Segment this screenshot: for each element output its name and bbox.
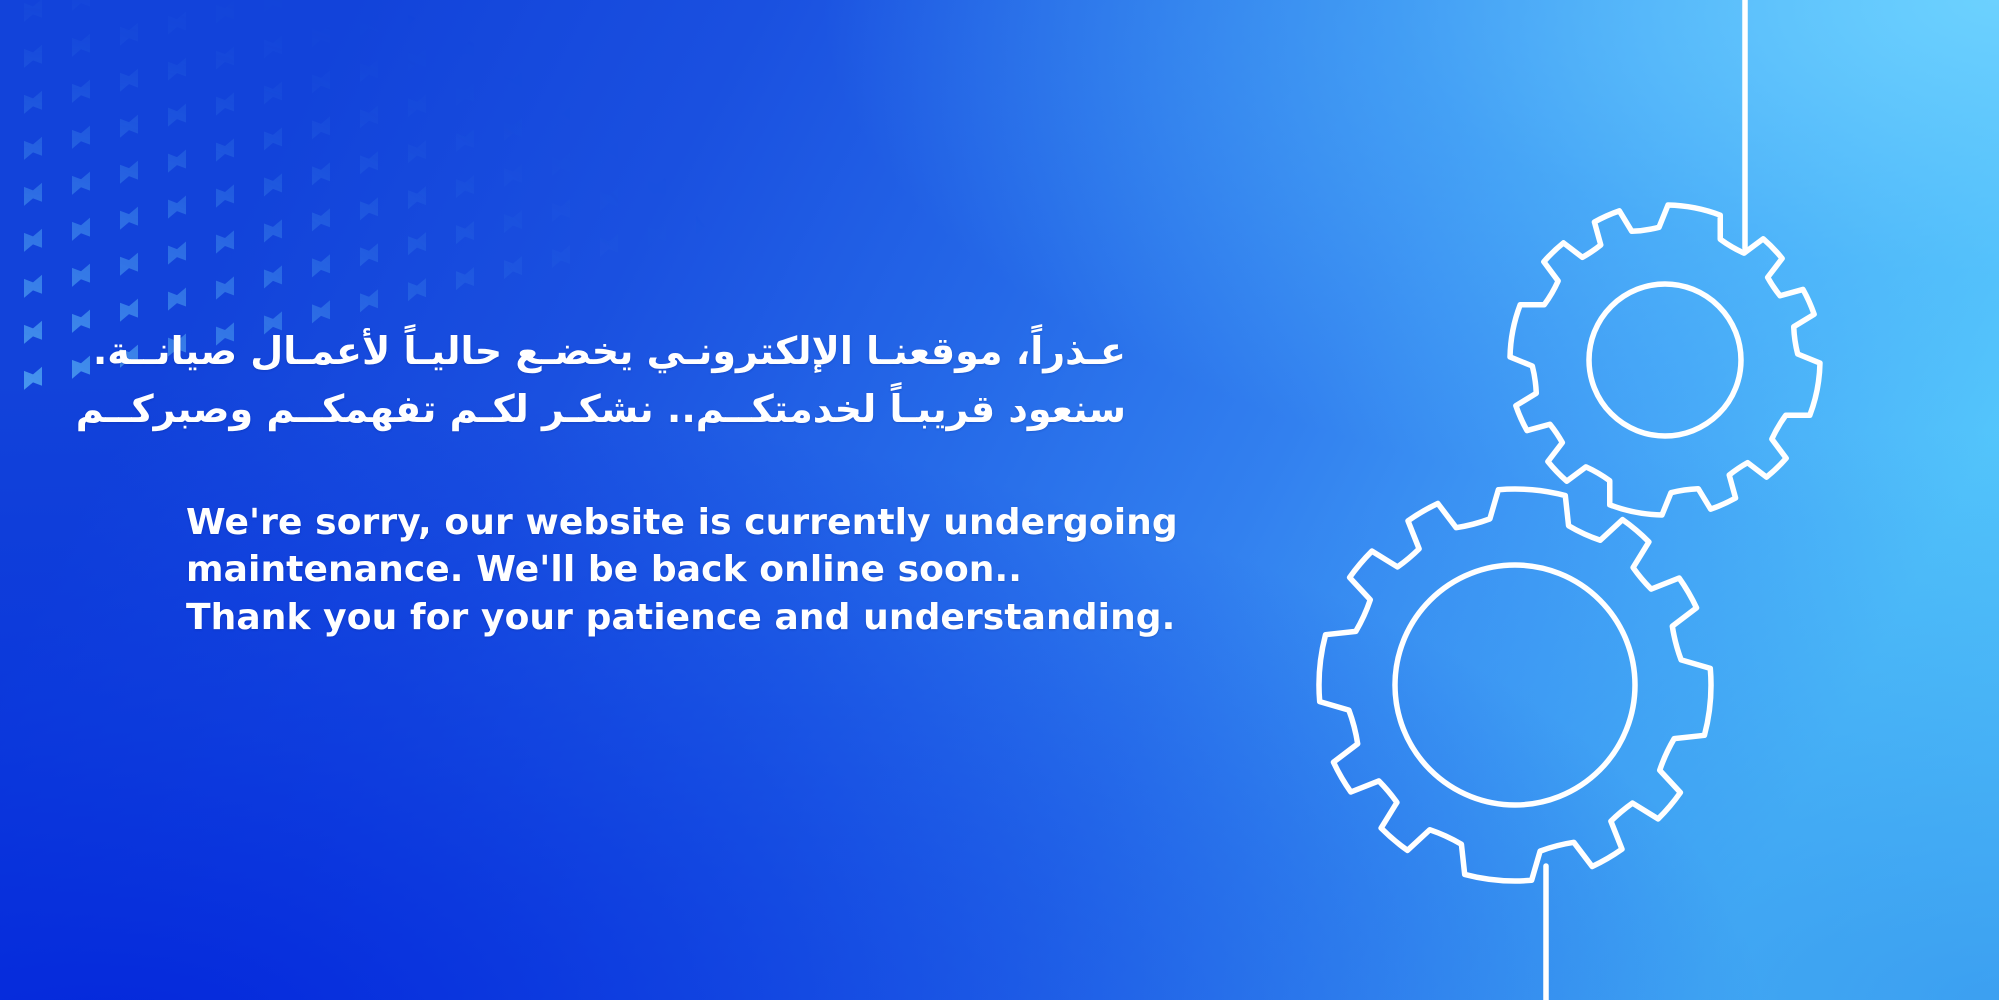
arabic-line-2: سنعود قريبـاً لخدمتكــم.. نشكـر لكـم تفه… — [186, 383, 1126, 437]
message-container: عـذراً، موقعنـا الإلكترونـي يخضـع حاليـا… — [186, 325, 1186, 641]
english-line-3: Thank you for your patience and understa… — [186, 594, 1186, 642]
arabic-line-1: عـذراً، موقعنـا الإلكترونـي يخضـع حاليـا… — [186, 325, 1126, 379]
english-message: We're sorry, our website is currently un… — [186, 499, 1186, 642]
arabic-message: عـذراً، موقعنـا الإلكترونـي يخضـع حاليـا… — [186, 325, 1126, 437]
english-line-1: We're sorry, our website is currently un… — [186, 499, 1186, 547]
english-line-2: maintenance. We'll be back online soon.. — [186, 546, 1186, 594]
maintenance-page: عـذراً، موقعنـا الإلكترونـي يخضـع حاليـا… — [0, 0, 1999, 1000]
